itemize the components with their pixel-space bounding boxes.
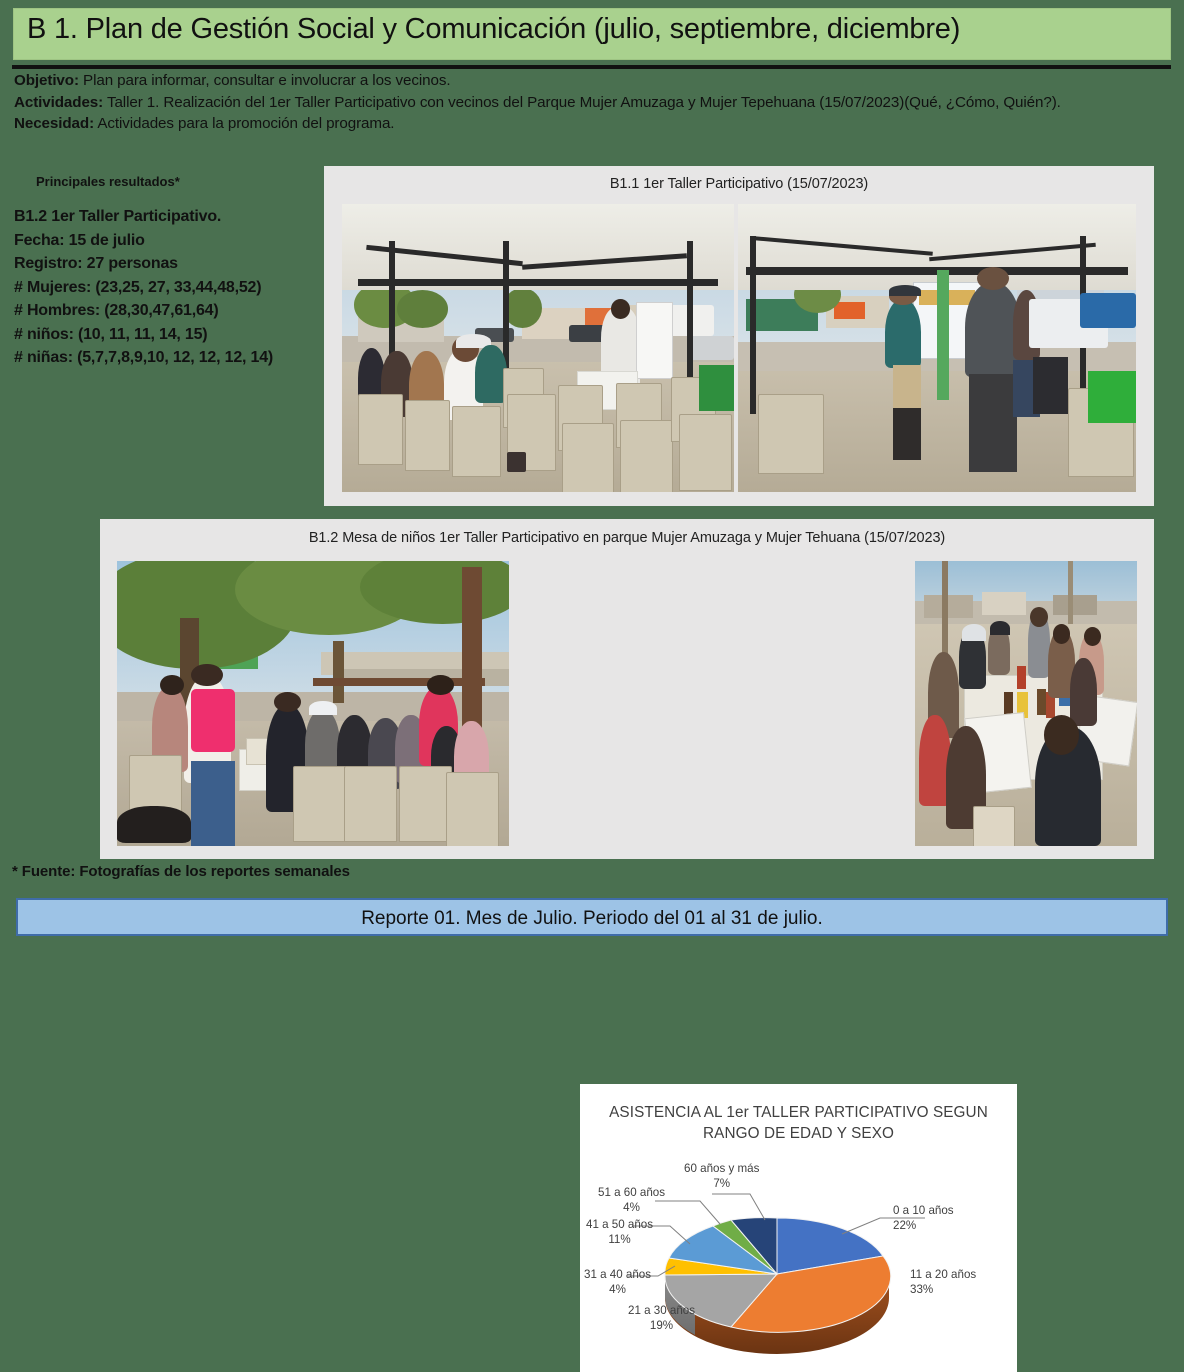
photo-taller-participativo-carpa-sillas <box>342 204 734 492</box>
stat-line-ninas: # niñas: (5,7,7,8,9,10, 12, 12, 12, 14) <box>14 346 324 370</box>
chart-title: ASISTENCIA AL 1er TALLER PARTICIPATIVO S… <box>604 1102 993 1144</box>
photo-ninos-dibujando-mesa <box>915 561 1137 846</box>
photo-mesa-de-ninos-parque <box>117 561 509 846</box>
stat-line-registro: Registro: 27 personas <box>14 252 324 276</box>
pie-label-21-a-30: 21 a 30 años 19% <box>628 1304 695 1333</box>
stat-line-mujeres: # Mujeres: (23,25, 27, 33,44,48,52) <box>14 276 324 300</box>
pie-plot-area: 0 a 10 años 22% 11 a 20 años 33% 21 a 30… <box>580 1156 1017 1366</box>
footnote-source: * Fuente: Fotografías de los reportes se… <box>12 863 350 880</box>
footer-bar: Reporte 01. Mes de Julio. Periodo del 01… <box>16 898 1168 936</box>
chart-title-line1: ASISTENCIA AL 1er TALLER PARTICIPATIVO S… <box>609 1104 988 1121</box>
stat-line-ninos: # niños: (10, 11, 11, 14, 15) <box>14 323 324 347</box>
principales-resultados-heading: Principales resultados* <box>36 174 180 189</box>
chart-title-line2: RANGO DE EDAD Y SEXO <box>703 1125 894 1142</box>
header-divider <box>12 65 1171 69</box>
stat-line-hombres: # Hombres: (28,30,47,61,64) <box>14 299 324 323</box>
necesidad-line: Necesidad: Actividades para la promoción… <box>14 113 1074 135</box>
actividades-label: Actividades: <box>14 94 103 111</box>
pie-label-31-a-40: 31 a 40 años 4% <box>584 1268 651 1297</box>
pie-label-60-y-mas: 60 años y más 7% <box>684 1162 759 1191</box>
actividades-line: Actividades: Taller 1. Realización del 1… <box>14 92 1074 114</box>
intro-text-block: Objetivo: Plan para informar, consultar … <box>14 70 1074 135</box>
pie-label-41-a-50: 41 a 50 años 11% <box>586 1218 653 1247</box>
necesidad-label: Necesidad: <box>14 115 94 132</box>
actividades-text: Taller 1. Realización del 1er Taller Par… <box>103 94 1061 111</box>
footer-text: Reporte 01. Mes de Julio. Periodo del 01… <box>18 908 1166 930</box>
objetivo-line: Objetivo: Plan para informar, consultar … <box>14 70 1074 92</box>
pie-chart-card: ASISTENCIA AL 1er TALLER PARTICIPATIVO S… <box>580 1084 1017 1372</box>
page-title: B 1. Plan de Gestión Social y Comunicaci… <box>27 13 960 46</box>
pie-label-11-a-20: 11 a 20 años 33% <box>910 1268 976 1297</box>
objetivo-label: Objetivo: <box>14 72 79 89</box>
necesidad-text: Actividades para la promoción del progra… <box>94 115 394 132</box>
stats-block: B1.2 1er Taller Participativo. Fecha: 15… <box>14 205 324 370</box>
photo-taller-participativo-vecinos-cartel <box>738 204 1136 492</box>
stat-line-title: B1.2 1er Taller Participativo. <box>14 205 324 229</box>
objetivo-text: Plan para informar, consultar e involucr… <box>79 72 451 89</box>
photo-panel-b11: B1.1 1er Taller Participativo (15/07/202… <box>324 166 1154 506</box>
panel1-caption: B1.1 1er Taller Participativo (15/07/202… <box>324 176 1154 192</box>
slide-page: B 1. Plan de Gestión Social y Comunicaci… <box>0 0 1184 943</box>
stat-line-fecha: Fecha: 15 de julio <box>14 229 324 253</box>
panel2-caption: B1.2 Mesa de niños 1er Taller Participat… <box>100 530 1154 546</box>
photo-panel-b12: B1.2 Mesa de niños 1er Taller Participat… <box>100 519 1154 859</box>
pie-label-0-a-10: 0 a 10 años 22% <box>893 1204 954 1233</box>
pie-label-51-a-60: 51 a 60 años 4% <box>598 1186 665 1215</box>
